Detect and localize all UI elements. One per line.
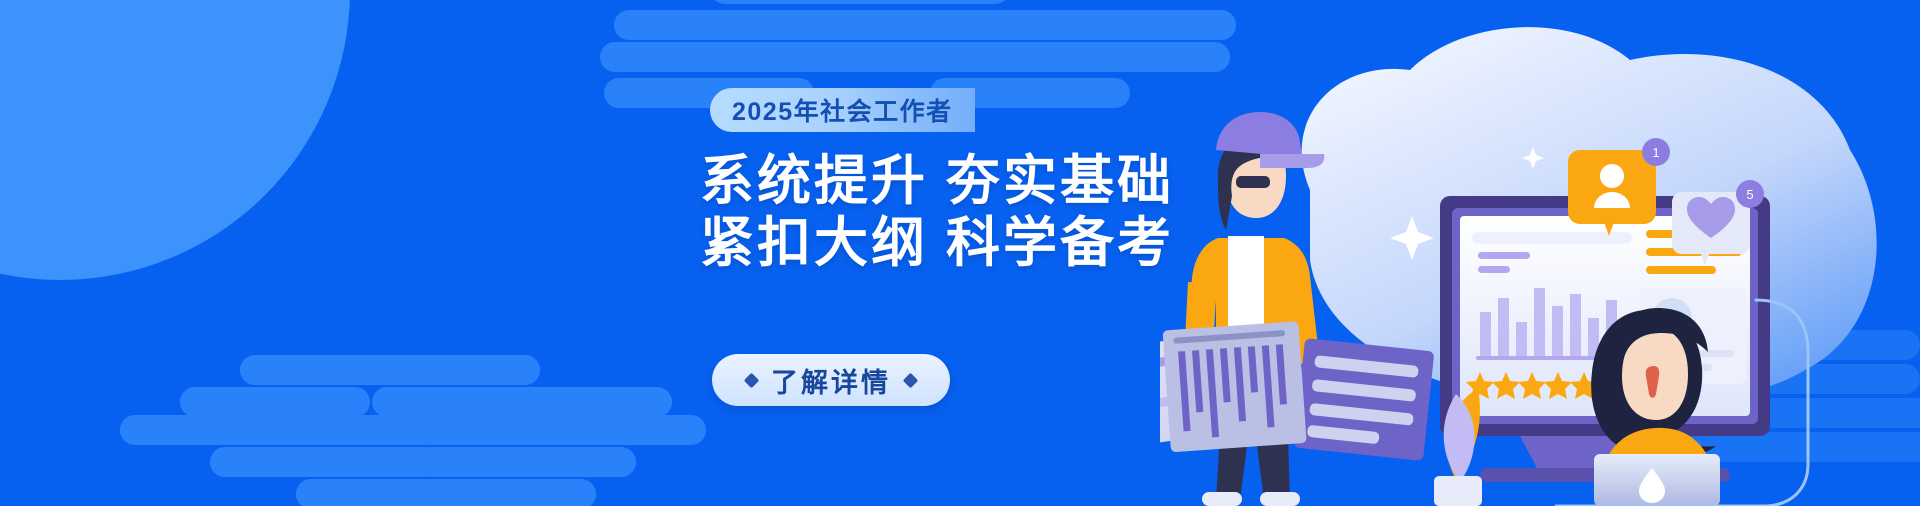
banner-content: 2025年社会工作者 系统提升 夯实基础 紧扣大纲 科学备考 了解详情 bbox=[0, 0, 1180, 506]
user-notification-count: 1 bbox=[1652, 145, 1659, 160]
learn-more-button-label: 了解详情 bbox=[771, 361, 891, 400]
page-title: 系统提升 夯实基础 紧扣大纲 科学备考 bbox=[700, 150, 1174, 274]
promo-banner: 2025年社会工作者 系统提升 夯实基础 紧扣大纲 科学备考 了解详情 bbox=[0, 0, 1920, 506]
headline-line-2: 紧扣大纲 科学备考 bbox=[700, 212, 1174, 274]
diamond-right-icon bbox=[903, 372, 919, 388]
headline-line-1: 系统提升 夯实基础 bbox=[700, 150, 1174, 212]
learn-more-button[interactable]: 了解详情 bbox=[712, 354, 950, 406]
diamond-left-icon bbox=[744, 372, 760, 388]
hero-illustration: 1 5 bbox=[1160, 0, 1920, 506]
illustration-svg: 1 5 bbox=[1160, 0, 1920, 506]
like-notification-count: 5 bbox=[1746, 187, 1753, 202]
campaign-badge: 2025年社会工作者 bbox=[710, 88, 975, 132]
campaign-badge-label: 2025年社会工作者 bbox=[732, 92, 953, 128]
